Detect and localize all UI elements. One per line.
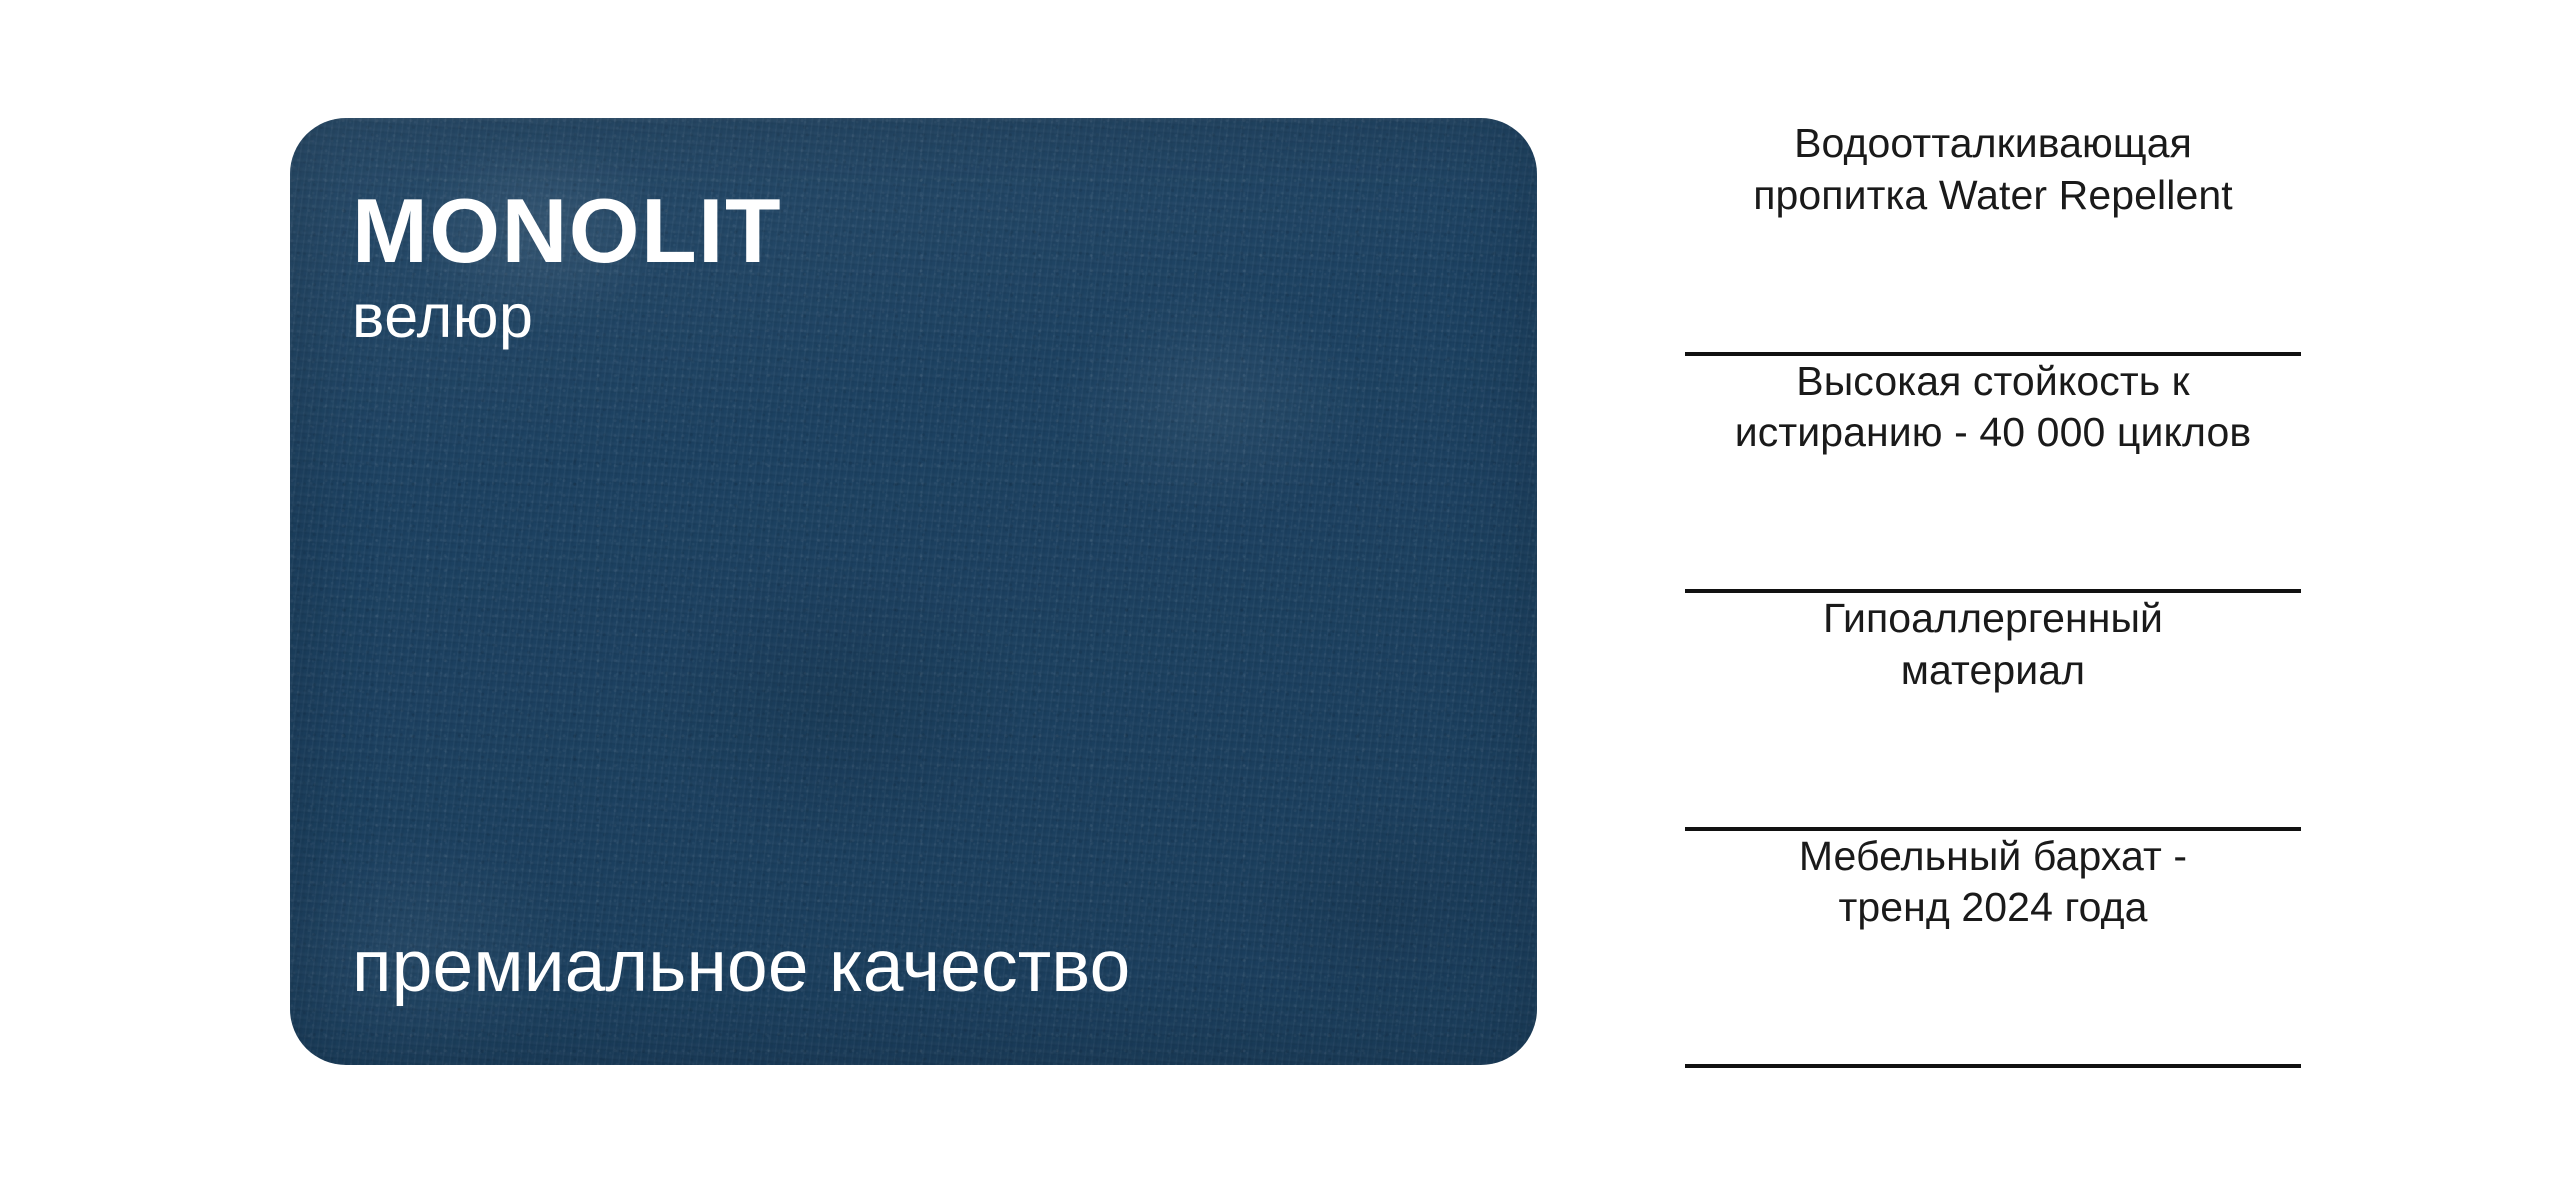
- feature-text: Гипоаллергенный материал: [1685, 593, 2301, 696]
- tagline: премиальное качество: [352, 930, 1130, 1003]
- feature-item-hypoallergenic: Гипоаллергенный материал: [1685, 593, 2301, 831]
- fabric-swatch: MONOLIT велюр премиальное качество: [290, 118, 1537, 1065]
- feature-text: Высокая стойкость к истиранию - 40 000 ц…: [1685, 356, 2301, 459]
- feature-item-abrasion-resistance: Высокая стойкость к истиранию - 40 000 ц…: [1685, 356, 2301, 594]
- feature-item-water-repellent: Водоотталкивающая пропитка Water Repelle…: [1685, 118, 2301, 356]
- brand-name: MONOLIT: [352, 186, 782, 277]
- feature-text: Водоотталкивающая пропитка Water Repelle…: [1685, 118, 2301, 221]
- product-card: MONOLIT велюр премиальное качество Водоо…: [0, 0, 2560, 1188]
- feature-list: Водоотталкивающая пропитка Water Repelle…: [1685, 118, 2301, 1068]
- feature-text: Мебельный бархат - тренд 2024 года: [1685, 831, 2301, 934]
- feature-divider: [1685, 1064, 2301, 1068]
- feature-item-trend-2024: Мебельный бархат - тренд 2024 года: [1685, 831, 2301, 1069]
- brand-block: MONOLIT велюр: [352, 186, 782, 347]
- fabric-type-label: велюр: [352, 286, 782, 347]
